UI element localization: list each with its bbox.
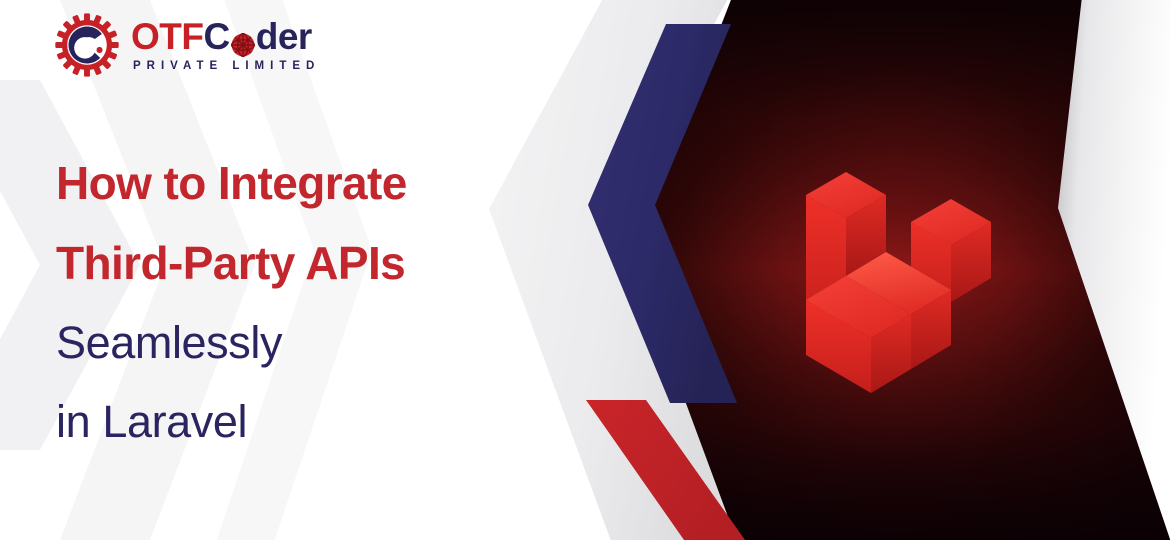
headline-line-1: How to Integrate xyxy=(56,160,526,206)
headline-line-4: in Laravel xyxy=(56,399,526,444)
globe-icon xyxy=(230,27,256,53)
promo-banner: OTFCder PRIVATE LIMITED How to Integrate… xyxy=(0,0,1170,540)
headline-line-2: Third-Party APIs xyxy=(56,240,526,286)
gear-c-icon xyxy=(54,12,120,78)
logo-word-c: C xyxy=(203,18,229,55)
logo-wordmark: OTFCder xyxy=(131,18,320,55)
logo-word-der: der xyxy=(256,18,312,55)
logo-text-block: OTFCder PRIVATE LIMITED xyxy=(131,17,320,73)
headline-block: How to Integrate Third-Party APIs Seamle… xyxy=(56,160,526,444)
logo-tagline: PRIVATE LIMITED xyxy=(133,61,320,73)
brand-logo[interactable]: OTFCder PRIVATE LIMITED xyxy=(54,12,320,78)
headline-line-3: Seamlessly xyxy=(56,320,526,365)
logo-word-otf: OTF xyxy=(131,18,203,55)
